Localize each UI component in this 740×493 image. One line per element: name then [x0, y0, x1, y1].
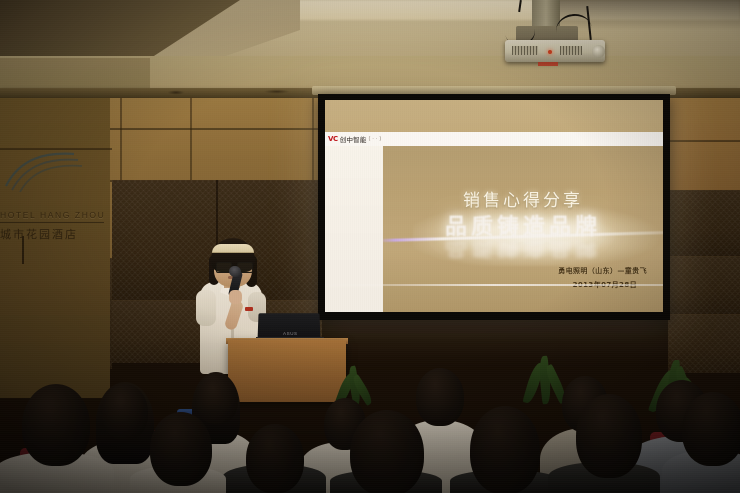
- hotel-logo-swoosh-icon: [2, 150, 92, 192]
- presenter-sleeve-left: [196, 290, 216, 326]
- audience-head: [682, 392, 740, 466]
- screen-light-band: [325, 284, 663, 286]
- audience-head: [22, 384, 90, 466]
- projector-power-led-icon: [548, 50, 552, 54]
- slide-content: 销售心得分享 品质铸造品牌 品质铸造品牌 勇电照明（山东）—童贵飞 2013年0…: [383, 146, 663, 312]
- audience-head: [196, 374, 238, 424]
- projector-vent: [512, 46, 538, 55]
- presenter-shirt-logo: [245, 307, 253, 311]
- projector-vent: [560, 46, 582, 55]
- app-header-title: 创中智能: [340, 134, 367, 144]
- acoustic-panel: [668, 256, 740, 315]
- hotel-sign-latin: HOTEL HANG ZHOU: [0, 210, 104, 220]
- projector-label: [538, 62, 558, 66]
- audience-head: [150, 412, 212, 486]
- laptop-brand-label: ASUS: [283, 331, 298, 336]
- right-wood-panel: [668, 98, 740, 190]
- audience-head: [576, 394, 642, 478]
- podium: [228, 340, 346, 402]
- hotel-sign: HOTEL HANG ZHOU 城市花园酒店: [0, 150, 112, 260]
- hotel-sign-rule: [0, 222, 104, 223]
- audience-head: [246, 424, 304, 493]
- projection-screen: VC 创中智能 ( · · ) 销售心得分享 品质铸造品牌 品质铸造品牌 勇电照…: [325, 100, 663, 312]
- audience-head: [470, 406, 540, 493]
- slide-subtitle-reflection: 品质铸造品牌: [383, 237, 663, 263]
- app-header-suffix: ( · · ): [369, 136, 382, 142]
- audience-head: [102, 384, 148, 440]
- acoustic-panel: [668, 190, 740, 257]
- app-logo-icon: VC: [328, 135, 338, 143]
- presenter-headband: [212, 244, 254, 253]
- slide-author: 勇电照明（山东）—童贵飞: [558, 266, 647, 276]
- panel-seam: [312, 98, 314, 180]
- audience-head: [416, 368, 464, 426]
- conference-room-photo: HOTEL HANG ZHOU 城市花园酒店 VC 创中智能 ( · · ) 销…: [0, 0, 740, 493]
- slide-title: 销售心得分享: [383, 186, 663, 211]
- projector-lens-icon: [592, 45, 605, 58]
- presenter-hand: [229, 290, 242, 304]
- audience-head: [350, 410, 424, 493]
- hotel-sign-chinese: 城市花园酒店: [0, 226, 104, 242]
- panel-seam: [190, 98, 192, 180]
- presentation-app-header: VC 创中智能 ( · · ): [325, 132, 663, 146]
- panel-groove: [668, 140, 740, 142]
- panel-seam: [120, 98, 122, 180]
